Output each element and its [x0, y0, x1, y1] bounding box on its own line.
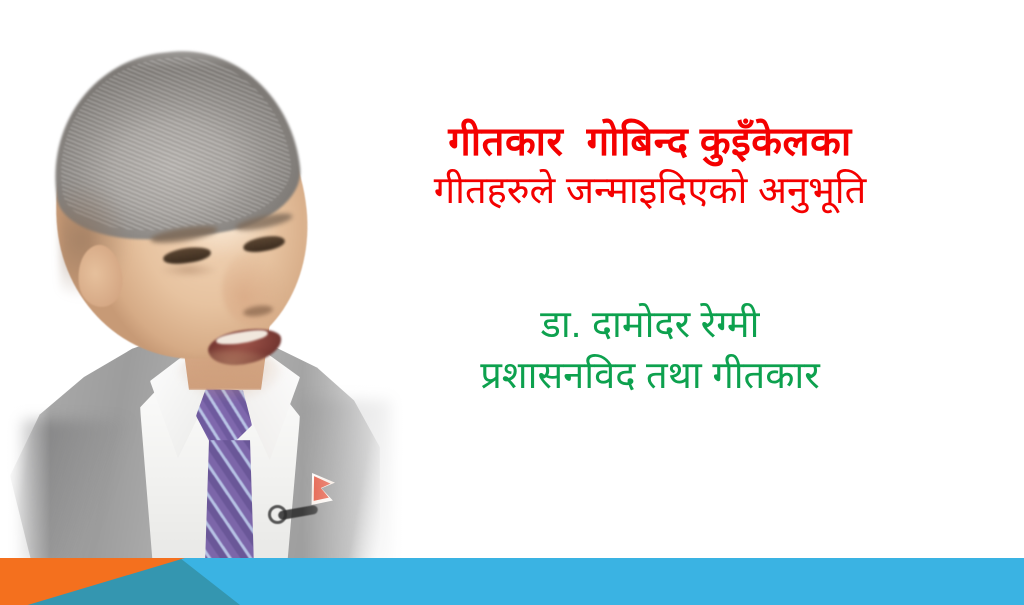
under-eye-shadow [160, 262, 218, 278]
bottom-color-bar [0, 558, 1024, 605]
portrait-photo [0, 0, 420, 562]
chin-shadow [175, 350, 285, 402]
poster-card: गीतकार गोबिन्द कुइँकेलका गीतहरुले जन्माइ… [0, 0, 1024, 605]
author-designation: प्रशासनविद तथा गीतकार [300, 351, 1000, 402]
headline-title: गीतकार गोबिन्द कुइँकेलका [300, 118, 1000, 167]
author-block: डा. दामोदर रेग्मी प्रशासनविद तथा गीतकार [300, 300, 1000, 402]
headline-subtitle: गीतहरुले जन्माइदिएको अनुभूति [300, 167, 1000, 216]
suit-shadow-left [20, 420, 130, 562]
necktie-icon [204, 440, 254, 562]
headline-block: गीतकार गोबिन्द कुइँकेलका गीतहरुले जन्माइ… [300, 118, 1000, 216]
author-name: डा. दामोदर रेग्मी [300, 300, 1000, 351]
